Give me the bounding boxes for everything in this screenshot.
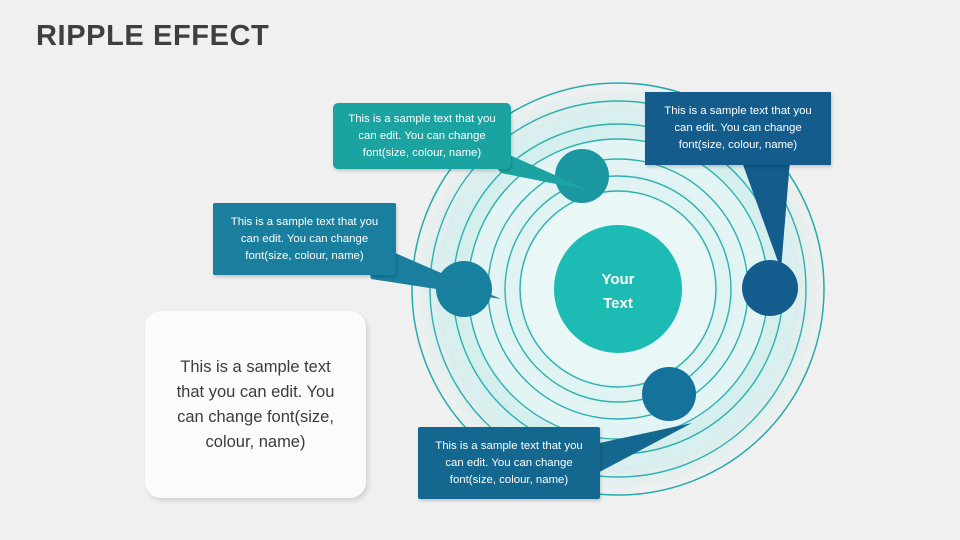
slide-canvas: RIPPLE EFFECT <box>0 0 960 540</box>
callout-left-body: This is a sample text that you can edit.… <box>213 203 396 275</box>
callout-top-left-text: This is a sample text that you can edit.… <box>343 111 501 162</box>
center-label-line2: Text <box>603 295 633 312</box>
callout-bottom-text: This is a sample text that you can edit.… <box>428 438 590 489</box>
callout-top-right[interactable]: This is a sample text that you can edit.… <box>645 92 831 165</box>
callout-bottom[interactable]: This is a sample text that you can edit.… <box>418 427 600 499</box>
callout-top-left[interactable]: This is a sample text that you can edit.… <box>333 103 511 169</box>
note-card-text: This is a sample text that you can edit.… <box>165 355 347 455</box>
callout-left-text: This is a sample text that you can edit.… <box>223 214 386 265</box>
callout-top-left-body: This is a sample text that you can edit.… <box>333 103 511 169</box>
callout-top-right-body: This is a sample text that you can edit.… <box>645 92 831 165</box>
callout-bottom-body: This is a sample text that you can edit.… <box>418 427 600 499</box>
node-bottom[interactable] <box>642 367 696 421</box>
note-card[interactable]: This is a sample text that you can edit.… <box>145 311 366 498</box>
page-title: RIPPLE EFFECT <box>36 20 269 53</box>
center-label-line1: Your <box>601 271 634 288</box>
callout-top-right-text: This is a sample text that you can edit.… <box>655 103 821 154</box>
callout-left[interactable]: This is a sample text that you can edit.… <box>213 203 396 275</box>
center-node: Your Text <box>554 225 682 353</box>
